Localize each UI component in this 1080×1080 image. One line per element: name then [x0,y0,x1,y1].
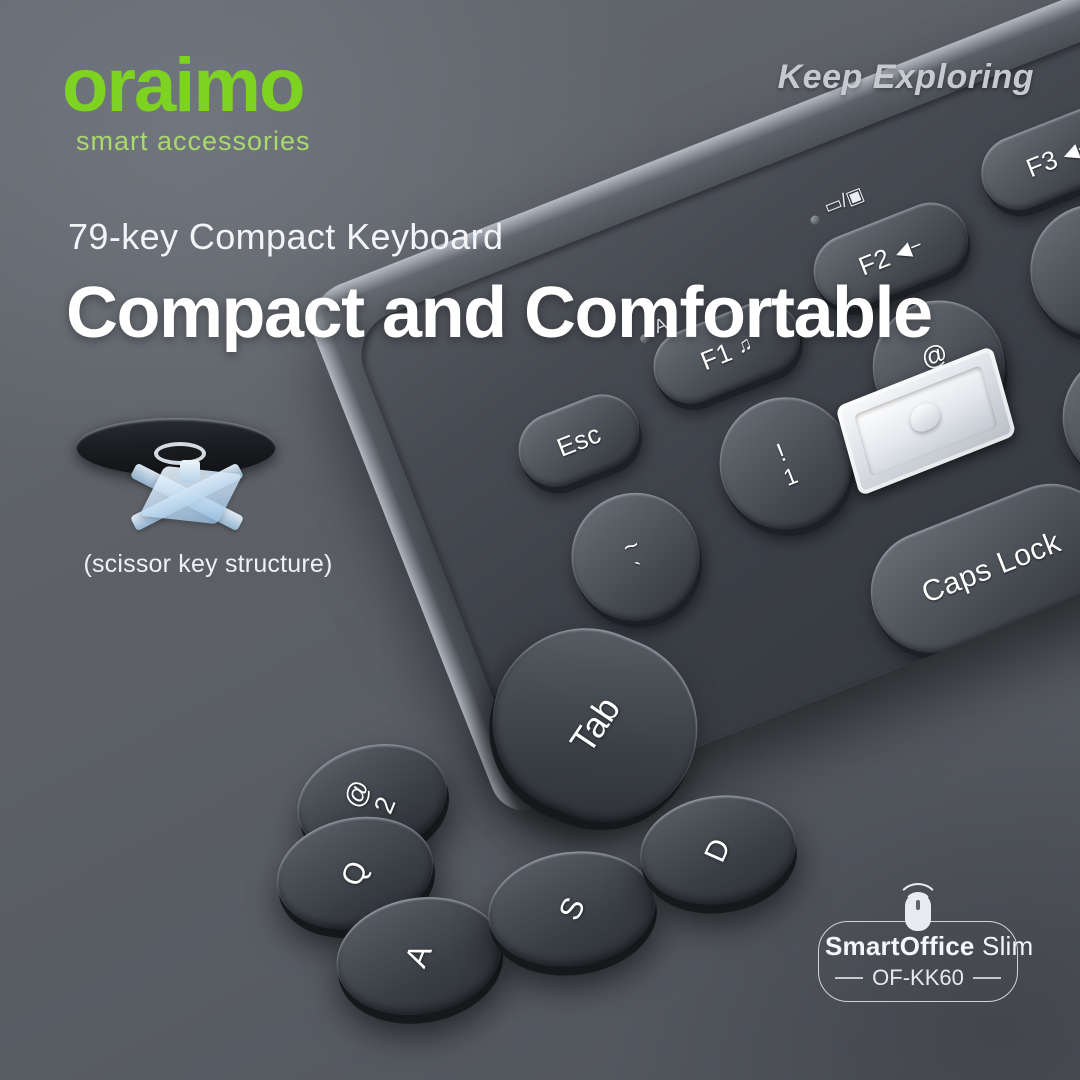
scissor-key-callout-label: (scissor key structure) [68,550,348,579]
brand-tagline: Keep Exploring [778,58,1034,97]
product-name-bold: SmartOffice [825,931,975,961]
product-model: OF-KK60 [825,965,1011,991]
wireless-mouse-icon [818,877,1018,931]
product-badge-box: SmartOffice Slim OF-KK60 [818,921,1018,1002]
key-tilde-bottom: ` [632,557,649,583]
key-3[interactable]: # 3 [1011,184,1080,355]
product-model-text: OF-KK60 [872,965,964,991]
key-1-top: ! [772,437,789,466]
brand-logo: oraimo smart accessories [62,48,311,157]
key-caps-lock[interactable]: Caps Lock [853,466,1080,671]
headline-title: Compact and Comfortable [66,272,932,354]
device-pairing-led-label: ▭/▣ [821,183,868,219]
promo-banner: A ▭/▣ Esc F1 ♫ F2 ◀− [0,0,1080,1080]
volume-down-icon: ◀− [891,232,926,266]
dash-right [973,977,1001,978]
product-name-light: Slim [982,931,1033,961]
key-f3-label: F3 [1022,143,1063,183]
brand-logo-text: oraimo [62,48,311,124]
keycap-s[interactable]: S [481,841,663,977]
key-q[interactable]: Q [1043,330,1080,504]
product-name: SmartOffice Slim [825,931,1011,962]
key-esc-label: Esc [552,418,605,463]
keycap-d[interactable]: D [633,786,803,915]
key-tilde[interactable]: ~ ` [553,474,719,640]
key-1-bottom: 1 [780,462,801,490]
device-pairing-led [809,214,821,226]
brand-logo-subtitle: smart accessories [76,126,311,157]
key-f3[interactable]: F3 ◀+ [970,93,1080,220]
volume-up-icon: ◀+ [1059,133,1080,167]
dash-left [835,977,863,978]
product-badge: SmartOffice Slim OF-KK60 [818,877,1018,1002]
scissor-mechanism-icon [122,454,252,540]
key-esc[interactable]: Esc [508,383,650,497]
eyebrow-text: 79-key Compact Keyboard [68,216,503,258]
key-caps-lock-label: Caps Lock [917,526,1066,611]
